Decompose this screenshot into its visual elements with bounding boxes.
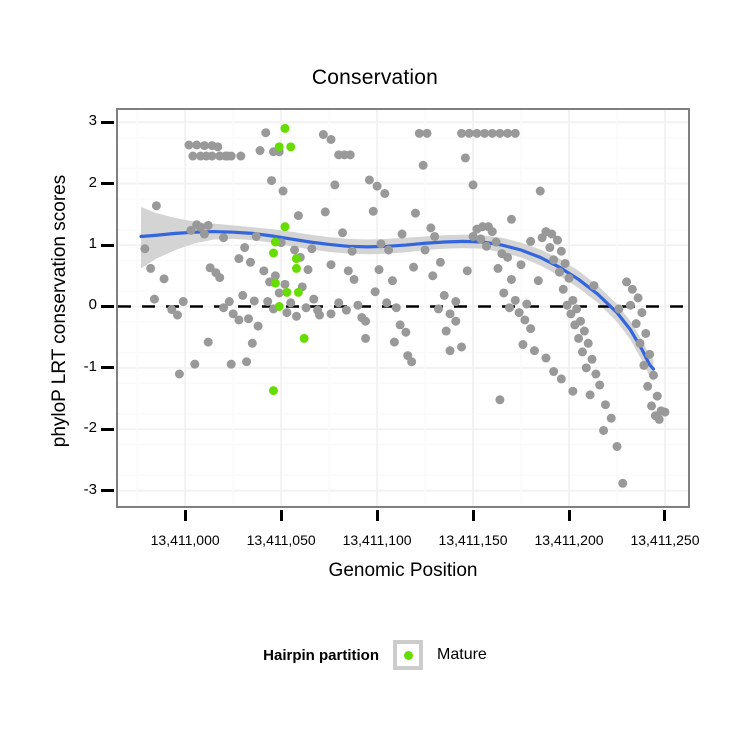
data-point-other <box>422 129 431 138</box>
data-point-other <box>392 303 401 312</box>
data-point-other <box>618 479 627 488</box>
data-point-mature <box>292 254 301 263</box>
data-point-other <box>190 360 199 369</box>
data-point-mature <box>271 279 280 288</box>
data-point-other <box>511 296 520 305</box>
data-point-other <box>384 245 393 254</box>
data-point-other <box>419 161 428 170</box>
data-point-other <box>628 285 637 294</box>
data-point-other <box>503 129 512 138</box>
data-point-other <box>208 152 217 161</box>
data-point-other <box>570 320 579 329</box>
data-point-other <box>267 176 276 185</box>
data-point-other <box>275 288 284 297</box>
data-point-other <box>482 242 491 251</box>
data-point-other <box>219 303 228 312</box>
data-point-other <box>472 129 481 138</box>
data-point-other <box>457 129 466 138</box>
data-point-other <box>204 221 213 230</box>
data-point-other <box>653 392 662 401</box>
data-point-other <box>411 209 420 218</box>
data-point-other <box>254 322 263 331</box>
data-point-other <box>319 130 328 139</box>
data-point-other <box>175 370 184 379</box>
data-point-other <box>522 300 531 309</box>
data-point-other <box>440 291 449 300</box>
data-point-other <box>507 275 516 284</box>
legend-title: Hairpin partition <box>263 647 379 664</box>
data-point-other <box>517 260 526 269</box>
data-point-other <box>396 320 405 329</box>
data-point-other <box>518 340 527 349</box>
x-tick-mark <box>568 510 571 521</box>
data-point-other <box>369 207 378 216</box>
data-point-other <box>376 239 385 248</box>
data-point-other <box>476 234 485 243</box>
data-point-mature <box>275 302 284 311</box>
data-point-other <box>361 317 370 326</box>
data-point-other <box>227 360 236 369</box>
y-tick-label: 2 <box>63 174 97 191</box>
data-point-other <box>204 338 213 347</box>
data-point-mature <box>292 264 301 273</box>
data-point-other <box>568 387 577 396</box>
data-point-other <box>200 230 209 239</box>
data-point-other <box>614 304 623 313</box>
y-tick-label: -2 <box>63 419 97 436</box>
data-point-other <box>643 382 652 391</box>
data-point-other <box>601 400 610 409</box>
data-point-other <box>304 265 313 274</box>
data-point-other <box>421 245 430 254</box>
data-point-other <box>173 311 182 320</box>
data-point-other <box>574 334 583 343</box>
data-point-other <box>346 150 355 159</box>
data-point-other <box>442 327 451 336</box>
data-point-other <box>457 342 466 351</box>
data-point-other <box>463 266 472 275</box>
data-point-other <box>428 271 437 280</box>
data-point-other <box>641 329 650 338</box>
data-point-other <box>244 314 253 323</box>
data-point-other <box>634 293 643 302</box>
data-point-mature <box>269 249 278 258</box>
data-point-other <box>480 129 489 138</box>
data-point-other <box>582 363 591 372</box>
x-tick-mark <box>663 510 666 521</box>
data-point-other <box>398 230 407 239</box>
data-point-other <box>541 354 550 363</box>
data-point-other <box>626 301 635 310</box>
y-tick-label: -1 <box>63 358 97 375</box>
data-point-other <box>553 236 562 245</box>
data-point-other <box>321 207 330 216</box>
data-point-other <box>632 319 641 328</box>
data-point-other <box>152 201 161 210</box>
data-point-other <box>557 247 566 256</box>
data-point-other <box>495 395 504 404</box>
data-point-other <box>495 129 504 138</box>
data-point-other <box>469 232 478 241</box>
data-point-other <box>586 390 595 399</box>
data-point-other <box>534 276 543 285</box>
data-point-other <box>219 233 228 242</box>
data-point-other <box>530 346 539 355</box>
data-point-other <box>561 259 570 268</box>
data-point-other <box>179 297 188 306</box>
data-point-mature <box>286 142 295 151</box>
data-point-other <box>263 297 272 306</box>
data-point-mature <box>300 334 309 343</box>
data-point-other <box>451 317 460 326</box>
data-point-other <box>294 211 303 220</box>
data-point-other <box>160 274 169 283</box>
data-point-mature <box>294 288 303 297</box>
data-point-other <box>240 243 249 252</box>
data-point-other <box>434 304 443 313</box>
data-point-other <box>361 334 370 343</box>
data-point-other <box>327 135 336 144</box>
data-point-other <box>645 350 654 359</box>
data-point-other <box>350 275 359 284</box>
data-point-other <box>290 245 299 254</box>
legend-label-mature: Mature <box>437 646 487 664</box>
data-point-other <box>426 223 435 232</box>
y-tick-label: 1 <box>63 235 97 252</box>
legend: Hairpin partition Mature <box>0 640 750 670</box>
data-point-other <box>315 311 324 320</box>
data-point-other <box>588 355 597 364</box>
data-point-other <box>375 265 384 274</box>
y-tick-label: 0 <box>63 296 97 313</box>
data-point-other <box>259 266 268 275</box>
data-point-other <box>330 180 339 189</box>
data-point-other <box>526 237 535 246</box>
y-tick-label: 3 <box>63 112 97 129</box>
data-point-other <box>660 408 669 417</box>
data-point-other <box>242 357 251 366</box>
data-point-other <box>280 280 289 289</box>
data-point-other <box>373 182 382 191</box>
data-point-other <box>607 414 616 423</box>
data-point-mature <box>269 386 278 395</box>
data-point-other <box>338 228 347 237</box>
y-tick-mark <box>101 489 114 492</box>
data-point-other <box>488 129 497 138</box>
data-point-other <box>591 370 600 379</box>
chart-title: Conservation <box>0 66 750 90</box>
data-point-other <box>348 247 357 256</box>
data-point-other <box>261 128 270 137</box>
data-point-other <box>140 244 149 253</box>
data-point-other <box>637 308 646 317</box>
data-point-other <box>536 187 545 196</box>
y-tick-mark <box>101 428 114 431</box>
y-tick-mark <box>101 366 114 369</box>
data-point-other <box>465 129 474 138</box>
data-point-other <box>146 264 155 273</box>
y-tick-mark <box>101 121 114 124</box>
data-point-other <box>446 309 455 318</box>
data-point-other <box>639 361 648 370</box>
data-point-other <box>286 298 295 307</box>
data-point-other <box>563 301 572 310</box>
data-point-other <box>589 281 598 290</box>
data-point-other <box>292 312 301 321</box>
data-point-other <box>246 258 255 267</box>
data-point-other <box>409 263 418 272</box>
data-point-other <box>403 351 412 360</box>
data-point-other <box>309 295 318 304</box>
data-point-other <box>451 297 460 306</box>
data-point-other <box>647 401 656 410</box>
data-point-other <box>252 232 261 241</box>
data-point-other <box>256 146 265 155</box>
data-point-other <box>185 140 194 149</box>
data-point-other <box>327 309 336 318</box>
data-point-other <box>353 301 362 310</box>
y-tick-label: -3 <box>63 481 97 498</box>
data-point-other <box>595 381 604 390</box>
data-point-other <box>503 253 512 262</box>
data-point-other <box>436 258 445 267</box>
data-point-other <box>469 180 478 189</box>
data-point-other <box>599 426 608 435</box>
x-tick-mark <box>184 510 187 521</box>
data-point-other <box>549 255 558 264</box>
data-point-other <box>213 142 222 151</box>
data-point-other <box>612 442 621 451</box>
data-point-other <box>538 233 547 242</box>
data-point-other <box>234 315 243 324</box>
data-point-other <box>150 295 159 304</box>
data-point-other <box>344 266 353 275</box>
data-point-other <box>492 238 501 247</box>
data-point-other <box>279 187 288 196</box>
data-point-other <box>655 415 664 424</box>
data-point-other <box>526 324 535 333</box>
data-point-other <box>636 339 645 348</box>
data-point-other <box>388 276 397 285</box>
data-point-mature <box>282 288 291 297</box>
data-point-mature <box>280 124 289 133</box>
data-point-other <box>494 264 503 273</box>
data-point-other <box>390 338 399 347</box>
data-point-other <box>566 309 575 318</box>
data-point-mature <box>275 142 284 151</box>
data-point-other <box>430 232 439 241</box>
data-point-other <box>334 298 343 307</box>
legend-key-mature[interactable] <box>393 640 423 670</box>
data-point-other <box>342 306 351 315</box>
data-point-other <box>565 274 574 283</box>
data-point-other <box>382 298 391 307</box>
x-tick-mark <box>472 510 475 521</box>
data-point-other <box>622 277 631 286</box>
data-point-other <box>511 129 520 138</box>
data-point-other <box>248 339 257 348</box>
chart-root: Conservation phyloP LRT conservation sco… <box>0 0 750 750</box>
y-tick-mark <box>101 182 114 185</box>
data-point-other <box>499 288 508 297</box>
data-point-other <box>555 268 564 277</box>
data-point-other <box>192 140 201 149</box>
data-point-other <box>215 273 224 282</box>
data-point-other <box>580 327 589 336</box>
data-point-mature <box>280 222 289 231</box>
data-point-other <box>488 227 497 236</box>
data-point-other <box>515 308 524 317</box>
data-point-other <box>234 254 243 263</box>
data-point-other <box>380 189 389 198</box>
data-point-other <box>223 152 232 161</box>
data-point-other <box>649 371 658 380</box>
plot-panel <box>116 108 690 508</box>
data-point-other <box>238 291 247 300</box>
x-axis-label: Genomic Position <box>116 560 690 582</box>
data-point-other <box>446 346 455 355</box>
y-tick-mark <box>101 244 114 247</box>
data-point-other <box>282 308 291 317</box>
data-point-other <box>578 347 587 356</box>
data-point-other <box>365 175 374 184</box>
plot-svg <box>118 110 688 506</box>
data-point-other <box>545 243 554 252</box>
data-point-other <box>559 285 568 294</box>
data-point-other <box>461 153 470 162</box>
data-point-other <box>371 287 380 296</box>
data-point-other <box>549 367 558 376</box>
data-point-other <box>415 129 424 138</box>
data-point-other <box>250 296 259 305</box>
data-point-other <box>327 260 336 269</box>
data-point-mature <box>271 238 280 247</box>
x-tick-mark <box>376 510 379 521</box>
legend-dot-icon <box>404 651 413 660</box>
data-point-other <box>236 152 245 161</box>
data-point-other <box>188 152 197 161</box>
data-point-other <box>557 374 566 383</box>
data-point-other <box>584 339 593 348</box>
data-point-other <box>307 244 316 253</box>
plot-area <box>118 110 688 506</box>
x-tick-mark <box>280 510 283 521</box>
data-point-other <box>505 303 514 312</box>
data-point-other <box>401 328 410 337</box>
data-point-other <box>507 215 516 224</box>
x-tick-label: 13,411,250 <box>605 532 725 548</box>
data-point-other <box>200 141 209 150</box>
data-point-other <box>520 315 529 324</box>
y-tick-mark <box>101 305 114 308</box>
data-point-other <box>302 303 311 312</box>
